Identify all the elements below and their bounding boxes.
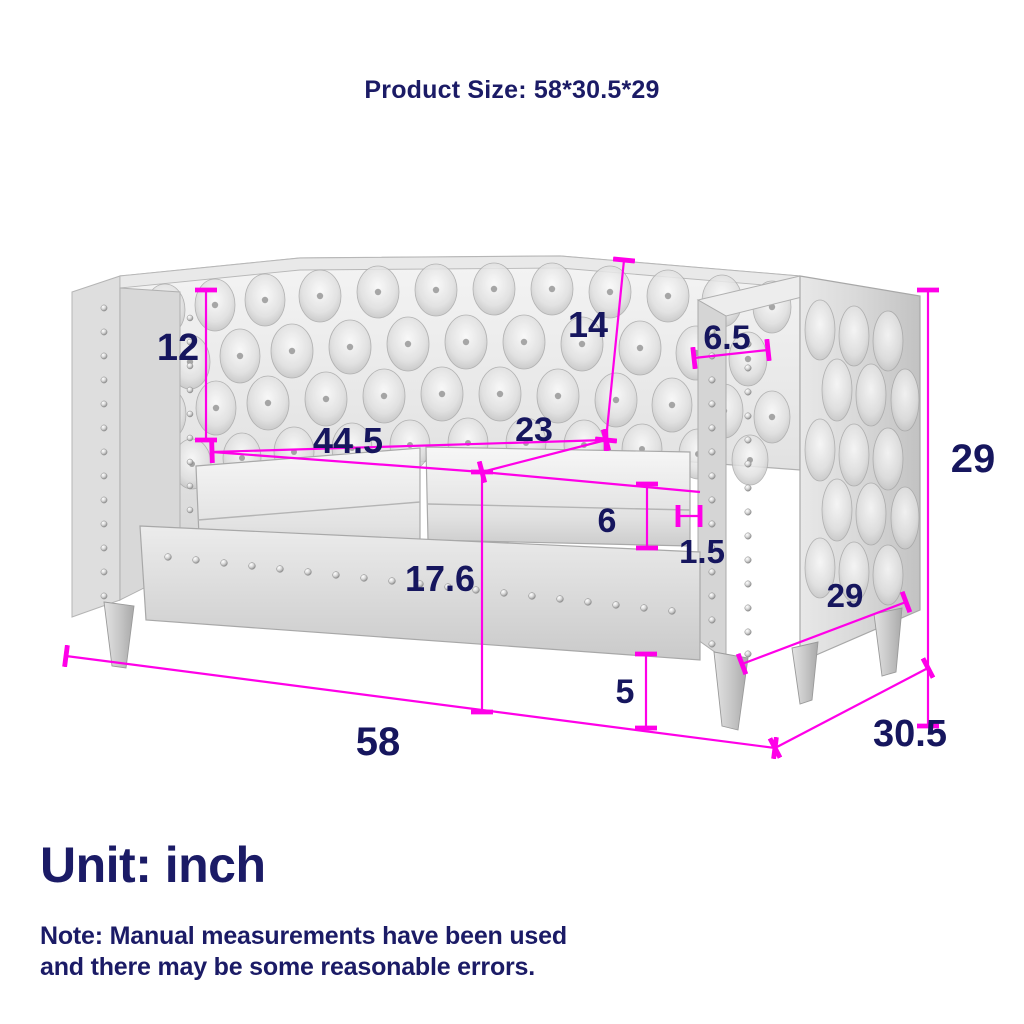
dimension-label-side-depth: 29 bbox=[827, 577, 864, 614]
sofa-leg-front-left bbox=[104, 602, 134, 668]
product-dimension-diagram-page: Product Size: 58*30.5*29 bbox=[0, 0, 1024, 1024]
dimension-label-backrest-inner-height: 12 bbox=[157, 327, 199, 369]
dimline-overall-width bbox=[66, 656, 775, 748]
unit-label: Unit: inch bbox=[40, 836, 266, 894]
sofa-back-left-wing bbox=[72, 276, 120, 617]
dimension-label-leg-height: 5 bbox=[616, 673, 635, 711]
dimension-label-seat-height: 17.6 bbox=[405, 558, 475, 599]
dimension-label-cushion-thickness: 6 bbox=[598, 502, 617, 540]
dimension-label-seat-depth: 23 bbox=[515, 411, 553, 449]
dimension-label-backrest-height: 14 bbox=[568, 304, 608, 345]
note-line-2: and there may be some reasonable errors. bbox=[40, 953, 535, 982]
dimension-label-arm-width: 6.5 bbox=[703, 319, 750, 357]
sofa-illustration bbox=[72, 256, 920, 730]
sofa-seat-cushion-right bbox=[426, 447, 690, 546]
sofa-leg-back-right bbox=[874, 608, 902, 676]
sofa-leg-back-left bbox=[792, 642, 818, 704]
dimension-label-overall-height: 29 bbox=[951, 437, 996, 481]
note-line-1: Note: Manual measurements have been used bbox=[40, 922, 567, 951]
dimension-label-cushion-gap: 1.5 bbox=[679, 533, 725, 570]
dimension-label-overall-depth: 30.5 bbox=[873, 713, 947, 755]
dimension-label-seat-width: 44.5 bbox=[313, 420, 383, 461]
dimension-label-overall-width: 58 bbox=[356, 720, 401, 764]
